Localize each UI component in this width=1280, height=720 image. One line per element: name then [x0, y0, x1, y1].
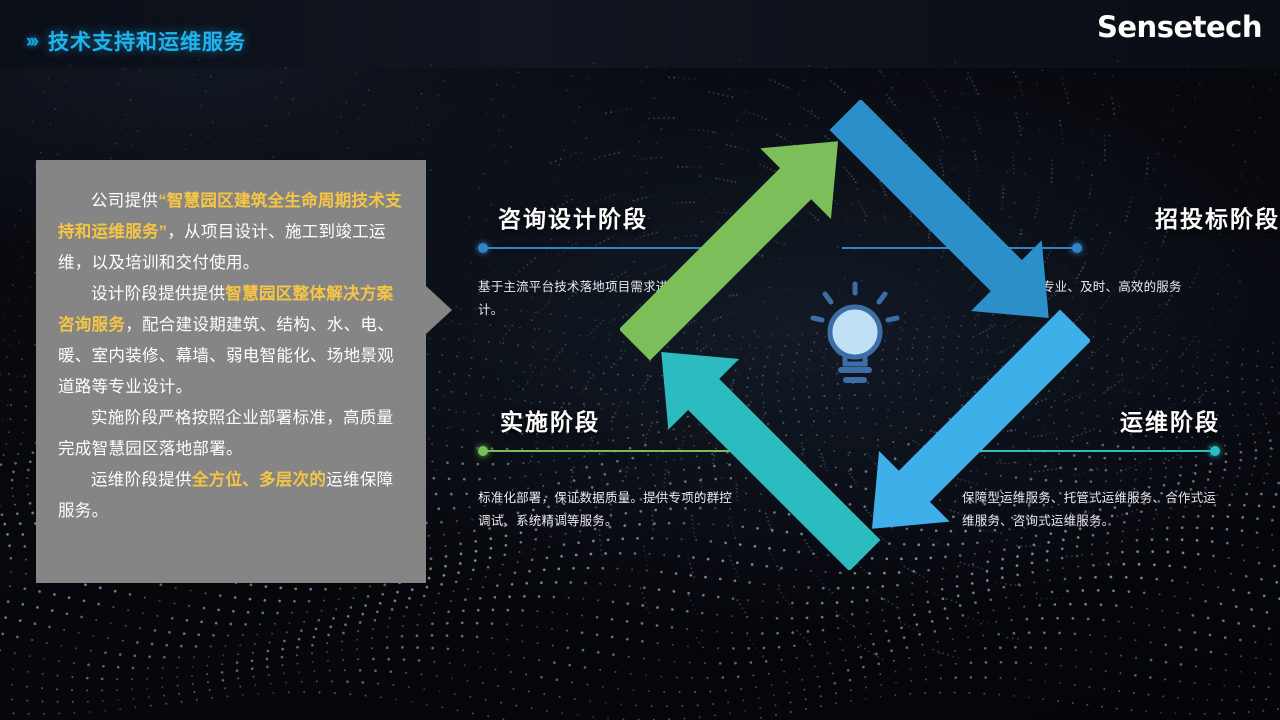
chevron-right-icon: ›››	[26, 32, 36, 51]
slide-header: ››› 技术支持和运维服务	[26, 26, 246, 56]
panel-highlight-text: 全方位、多层次的	[192, 471, 326, 489]
panel-text: 实施阶段严格按照企业部署标准，高质量完成智慧园区落地部署。	[58, 409, 393, 458]
page-title: 技术支持和运维服务	[48, 26, 246, 56]
stage-rule-dot	[478, 243, 488, 253]
panel-paragraph: 公司提供“智慧园区建筑全生命周期技术支持和运维服务”，从项目设计、施工到竣工运维…	[58, 186, 402, 279]
stage-rule-dot	[478, 446, 488, 456]
panel-paragraph: 运维阶段提供全方位、多层次的运维保障服务。	[58, 465, 402, 527]
panel-paragraph: 设计阶段提供提供智慧园区整体解决方案咨询服务，配合建设期建筑、结构、水、电、暖、…	[58, 279, 402, 403]
slide-root: ››› 技术支持和运维服务 Sensetech 公司提供“智慧园区建筑全生命周期…	[0, 0, 1280, 720]
panel-text: 公司提供	[91, 192, 158, 210]
panel-paragraph: 实施阶段严格按照企业部署标准，高质量完成智慧园区落地部署。	[58, 403, 402, 465]
chevron-glyphs: ›››	[26, 32, 36, 51]
brand-logo: Sensetech	[1097, 10, 1262, 44]
description-panel: 公司提供“智慧园区建筑全生命周期技术支持和运维服务”，从项目设计、施工到竣工运维…	[36, 160, 426, 583]
panel-text: 运维阶段提供	[91, 471, 192, 489]
cycle-diagram	[620, 100, 1090, 570]
lightbulb-icon	[805, 280, 905, 390]
panel-pointer-arrow	[426, 286, 452, 334]
panel-text: 设计阶段提供提供	[91, 285, 225, 303]
stage-rule-dot	[1210, 446, 1220, 456]
